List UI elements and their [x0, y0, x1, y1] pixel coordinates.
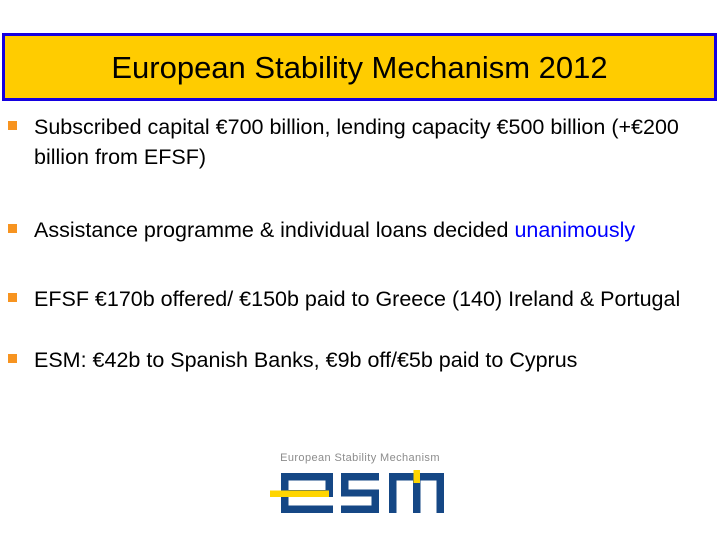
bullet-line-1: Assistance programme & individual loans …	[34, 218, 514, 242]
list-item: ESM: €42b to Spanish Banks, €9b off/€5b …	[8, 345, 714, 375]
bullet-line-2: Portugal	[600, 287, 680, 311]
logo-caption: European Stability Mechanism	[0, 452, 720, 464]
square-bullet-icon	[8, 121, 17, 130]
esm-logo-icon	[270, 470, 450, 516]
square-bullet-icon	[8, 293, 17, 302]
bullet-line-1: EFSF €170b offered/ €150b paid to Greece…	[34, 287, 594, 311]
esm-logo-block: European Stability Mechanism	[0, 452, 720, 521]
square-bullet-icon	[8, 224, 17, 233]
bullet-text: Assistance programme & individual loans …	[34, 215, 714, 245]
square-bullet-icon	[8, 354, 17, 363]
list-item: Assistance programme & individual loans …	[8, 215, 714, 245]
bullet-line-1: ESM: €42b to Spanish Banks, €9b off/€5b …	[34, 348, 577, 372]
bullet-highlight: unanimously	[514, 218, 635, 242]
bullet-line-1: Subscribed capital €700 billion, lending…	[34, 115, 605, 139]
page-title: European Stability Mechanism 2012	[111, 52, 607, 83]
list-item: EFSF €170b offered/ €150b paid to Greece…	[8, 284, 714, 314]
list-item: Subscribed capital €700 billion, lending…	[8, 112, 714, 172]
slide-title-band: European Stability Mechanism 2012	[2, 33, 717, 101]
slide-canvas: European Stability Mechanism 2012 Subscr…	[0, 0, 720, 540]
bullet-text: ESM: €42b to Spanish Banks, €9b off/€5b …	[34, 345, 714, 375]
bullet-text: Subscribed capital €700 billion, lending…	[34, 112, 714, 172]
bullet-text: EFSF €170b offered/ €150b paid to Greece…	[34, 284, 714, 314]
